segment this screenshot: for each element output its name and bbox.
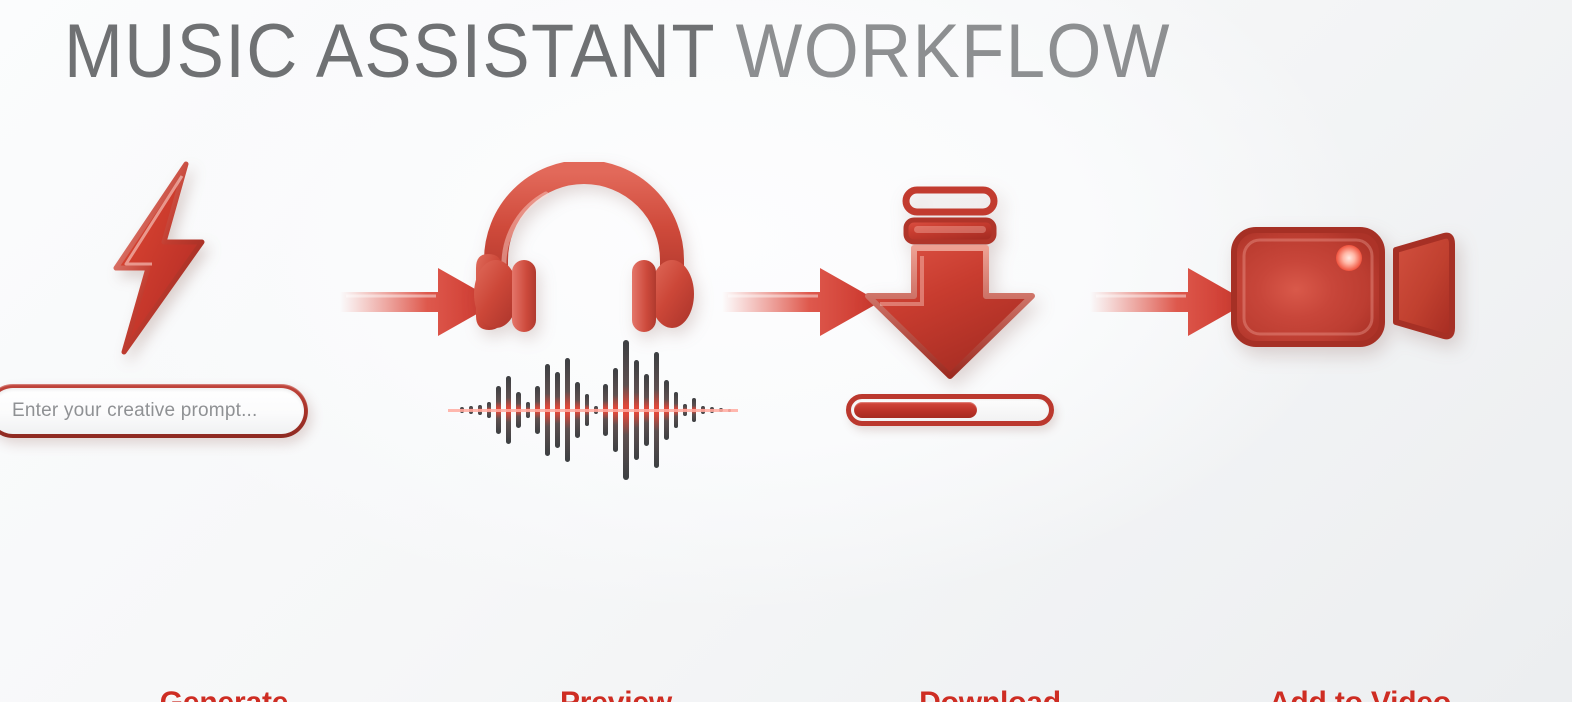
download-progress-bar [846,394,1054,426]
page-title-strong: MUSIC ASSISTANT [64,9,715,94]
step-add-to-video: Add to Video Integrate seamlessly into y… [1214,150,1514,510]
creative-prompt-placeholder: Enter your creative prompt... [12,400,258,422]
workflow-infographic: MUSIC ASSISTANT WORKFLOW [0,0,1572,702]
creative-prompt-input-inner[interactable]: Enter your creative prompt... [0,388,304,434]
step-add-to-video-title: Add to Video [1210,686,1510,702]
download-progress-fill [854,402,977,418]
creative-prompt-input[interactable]: Enter your creative prompt... [0,384,308,438]
step-preview: Preview Listen to your AI-generated trac… [466,150,766,510]
step-preview-title: Preview [466,686,766,702]
step-preview-art [466,150,766,510]
video-camera-icon [1230,222,1460,352]
lightning-bolt-icon [98,160,214,356]
page-title: MUSIC ASSISTANT WORKFLOW [64,4,1171,100]
step-add-to-video-art [1214,150,1514,510]
step-generate-title: Generate [74,686,374,702]
step-generate-art: Enter your creative prompt... [74,150,374,510]
page-title-light: WORKFLOW [715,9,1171,94]
headphones-icon [474,162,694,342]
audio-waveform-icon [448,330,738,490]
step-generate: Enter your creative prompt... Generate E… [74,150,374,510]
download-arrow-icon [850,186,1050,386]
step-download-title: Download [840,686,1140,702]
